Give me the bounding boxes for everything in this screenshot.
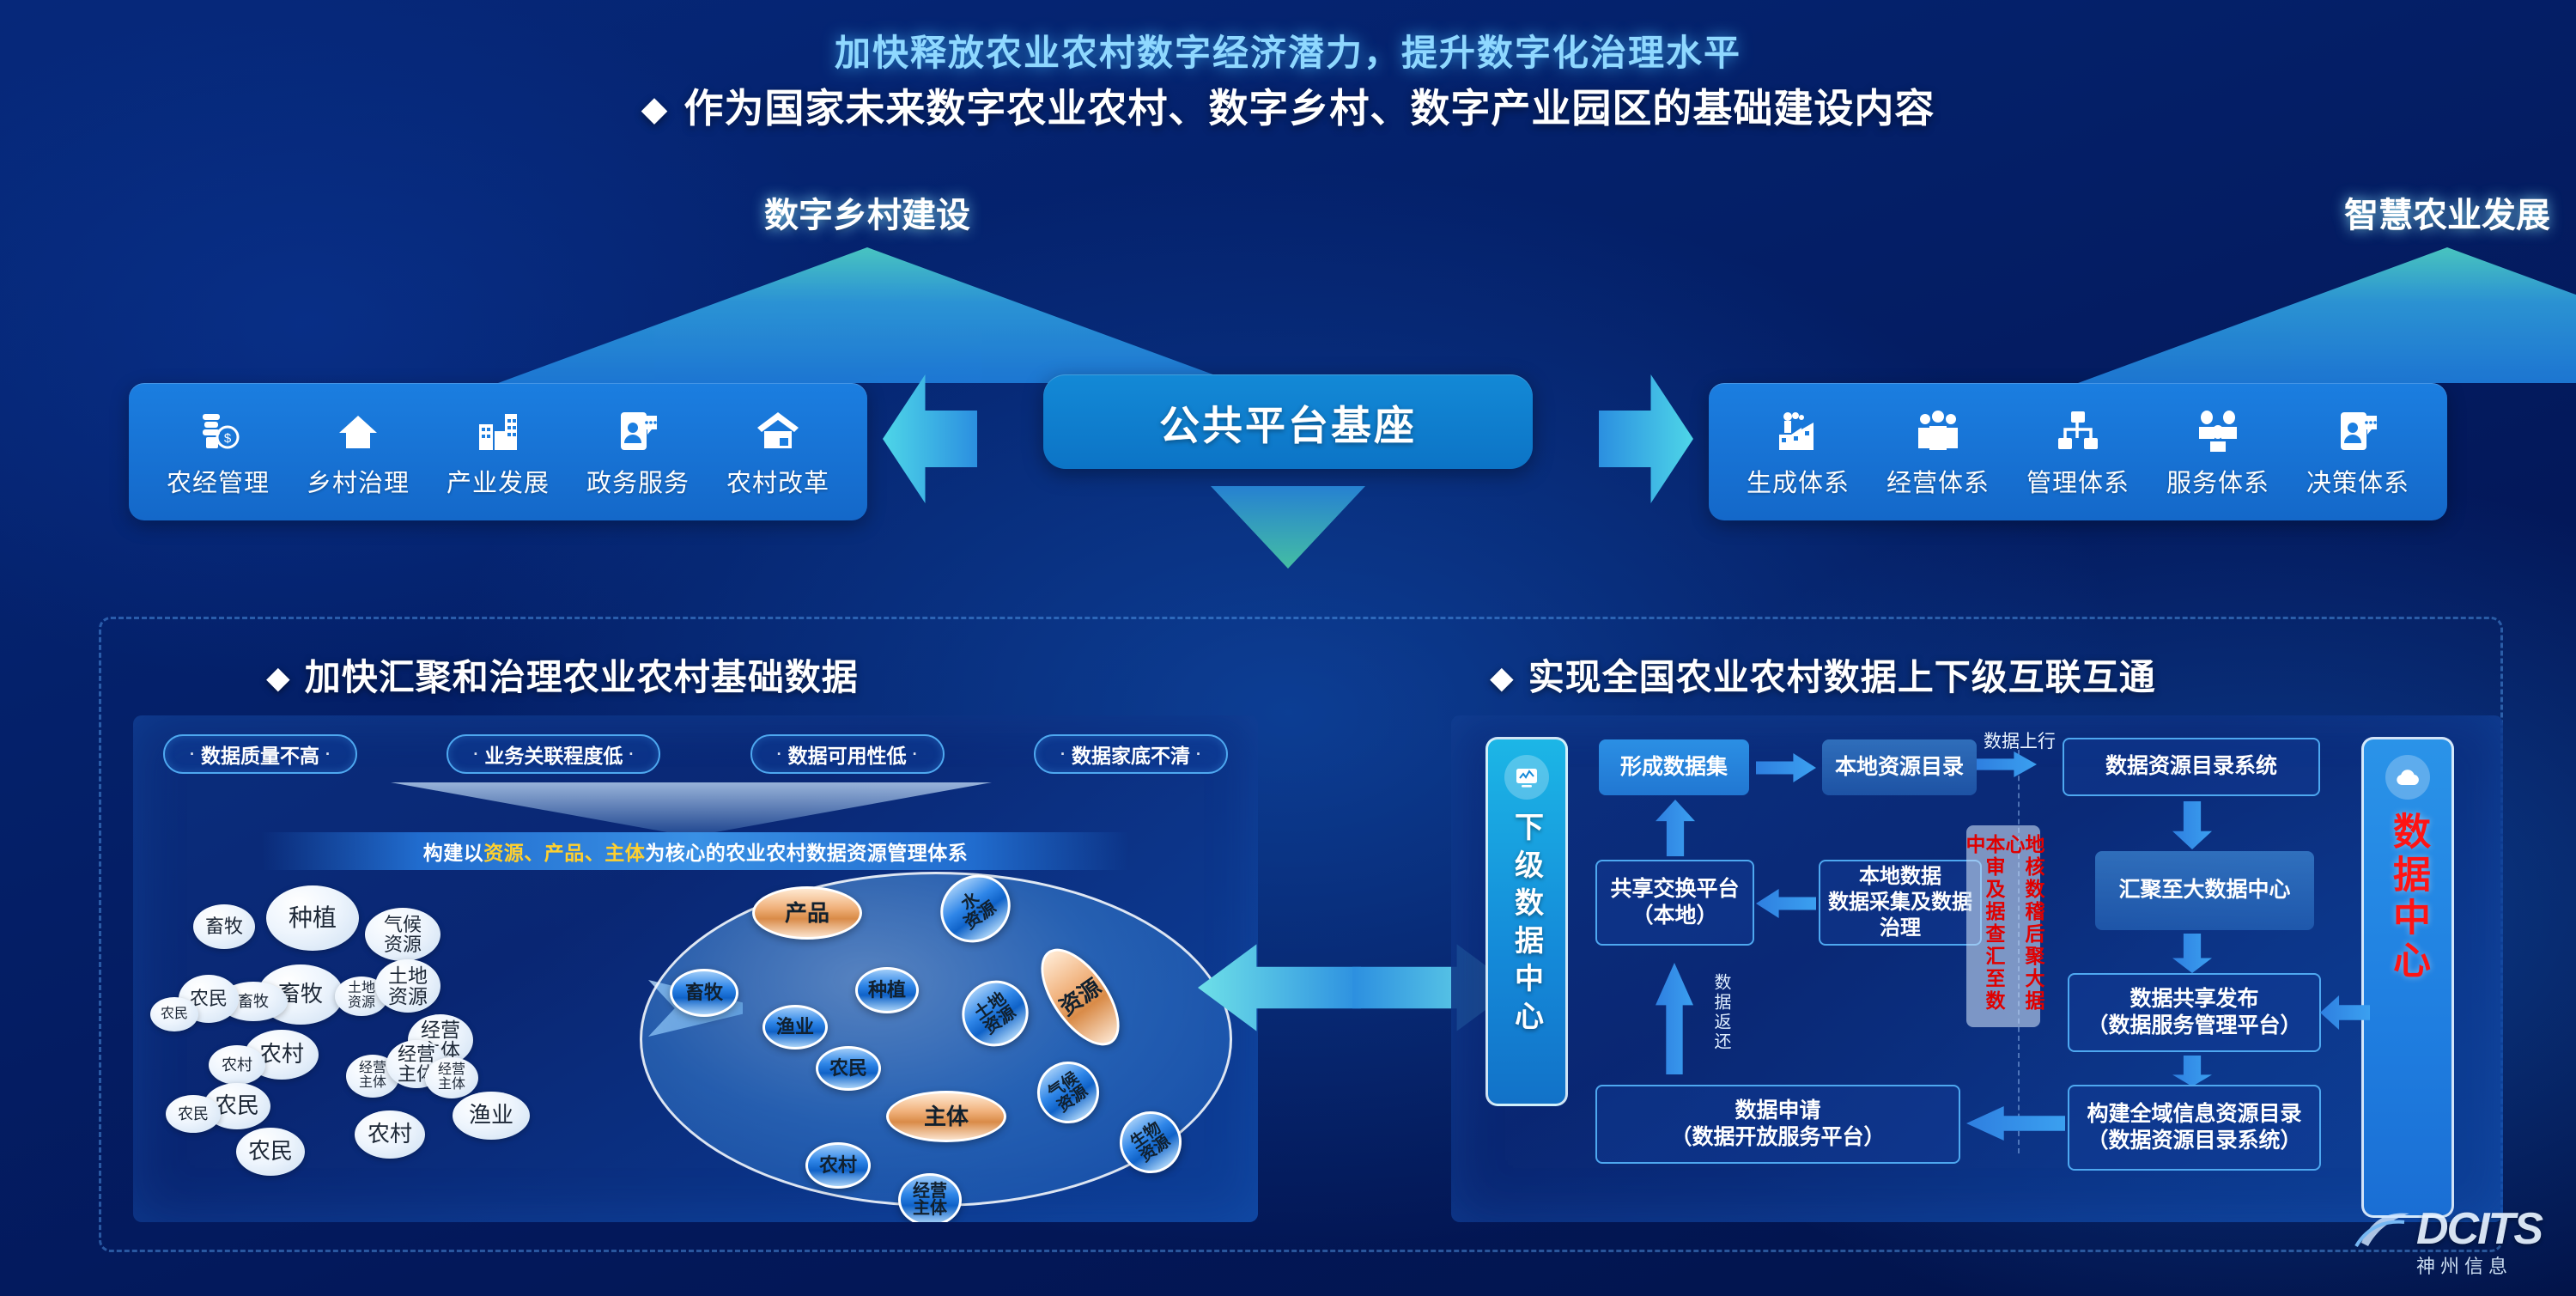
data-bubble: 农村 xyxy=(209,1045,265,1085)
feature-item-nongcungaige[interactable]: 农村改革 xyxy=(714,405,842,499)
feature-label: 产业发展 xyxy=(434,463,562,499)
logo-mark: DCITS xyxy=(2416,1203,2542,1255)
pill-label: 数据可用性低 xyxy=(788,739,907,769)
svg-text:$: $ xyxy=(224,431,232,446)
pill-dot: · xyxy=(777,745,782,764)
funnel-shape xyxy=(391,782,992,832)
issue-pill[interactable]: ·数据家底不清· xyxy=(1034,734,1228,774)
banner-highlight: 资源、产品、主体 xyxy=(483,837,645,866)
flow-box-build-catalog[interactable]: 构建全域信息资源目录 （数据资源目录系统） xyxy=(2068,1085,2321,1171)
data-upload-label: 数据上行 xyxy=(1984,727,2056,753)
feature-label: 经营体系 xyxy=(1874,463,2002,499)
feature-label: 农经管理 xyxy=(154,463,283,499)
right-house-panel: 智慧农业发展 生成体系 经营体系 管理体系 服务体系 xyxy=(1709,247,2447,520)
arrow-right-icon xyxy=(1599,374,1693,503)
money-stack-icon: $ xyxy=(154,405,283,458)
data-node: 畜牧 xyxy=(670,969,738,1017)
lower-data-center-bar[interactable]: 下级数据中心 xyxy=(1485,737,1568,1106)
core-system-banner: 构建以资源、产品、主体为核心的农业农村数据资源管理体系 xyxy=(262,832,1129,870)
feature-item-fuwutixi[interactable]: 服务体系 xyxy=(2154,405,2282,499)
data-node: 渔业 xyxy=(762,1005,828,1050)
flow-box-share-publish[interactable]: 数据共享发布 （数据服务管理平台） xyxy=(2068,973,2321,1052)
feature-item-juecetixi[interactable]: 决策体系 xyxy=(2293,405,2422,499)
data-bubble: 农村 xyxy=(355,1110,425,1159)
company-logo: DCITS 神州信息 xyxy=(2416,1203,2542,1279)
pill-dot: · xyxy=(913,745,918,764)
feature-label: 决策体系 xyxy=(2293,463,2422,499)
data-bubble: 畜牧 xyxy=(193,904,255,949)
red-note-col-right: 地核数稽后聚大据心 xyxy=(2003,834,2043,1019)
logo-swoosh-icon xyxy=(2354,1207,2415,1251)
flow-box-local-catalog[interactable]: 本地资源目录 xyxy=(1822,739,1977,795)
pill-dot: · xyxy=(190,745,195,764)
feature-item-jingyingtixi[interactable]: 经营体系 xyxy=(1874,405,2002,499)
issue-pill[interactable]: ·数据可用性低· xyxy=(750,734,945,774)
data-resource-model: 产品水 资源资源畜牧种植土地 资源渔业农民气候 资源生物 资源主体农村经营 主体 xyxy=(640,872,1232,1207)
roof-shape xyxy=(2078,247,2576,383)
data-center-bar[interactable]: 数据中心 xyxy=(2361,737,2454,1218)
feature-label: 农村改革 xyxy=(714,463,842,499)
data-node: 农民 xyxy=(816,1046,881,1091)
feature-item-shengchengtixi[interactable]: 生成体系 xyxy=(1734,405,1862,499)
data-bubble: 经营 主体 xyxy=(425,1057,478,1098)
people-group-icon xyxy=(1874,405,2002,458)
arrow-left-icon xyxy=(1756,889,1816,918)
heading-text: 实现全国农业农村数据上下级互联互通 xyxy=(1528,657,2156,697)
data-bubble: 农民 xyxy=(166,1095,221,1133)
page-title: 加快释放农业农村数字经济潜力，提升数字化治理水平 xyxy=(0,24,2576,76)
platform-base-button[interactable]: 公共平台基座 xyxy=(1043,374,1533,469)
data-node: 种植 xyxy=(855,967,919,1013)
left-house-roof: 数字乡村建设 xyxy=(129,247,867,376)
mobile-service-icon xyxy=(574,405,702,458)
flow-box-form-dataset[interactable]: 形成数据集 xyxy=(1599,739,1749,795)
data-bubble: 气候 资源 xyxy=(365,908,440,961)
banner-suffix: 为核心的农业农村数据资源管理体系 xyxy=(645,837,968,866)
data-bubble: 农民 xyxy=(236,1128,305,1176)
monitor-chart-icon xyxy=(1504,755,1549,800)
flow-box-catalog-system[interactable]: 数据资源目录系统 xyxy=(2063,738,2320,796)
red-note-col-left: 本审及据查汇至数中 xyxy=(1964,834,2003,1019)
right-house-body: 生成体系 经营体系 管理体系 服务体系 决策体系 xyxy=(1709,383,2447,520)
arrow-down-icon xyxy=(1211,486,1365,569)
core-node: 产品 xyxy=(752,886,862,940)
issue-pill-row: ·数据质量不高· ·业务关联程度低· ·数据可用性低· ·数据家底不清· xyxy=(163,734,1228,774)
buildings-icon xyxy=(434,405,562,458)
issue-pill[interactable]: ·业务关联程度低· xyxy=(447,734,660,774)
data-node: 水 资源 xyxy=(927,861,1024,956)
data-bubble: 种植 xyxy=(266,885,359,951)
arrow-right-icon xyxy=(1756,753,1816,782)
bottom-left-heading: ◆加快汇聚和治理农业农村基础数据 xyxy=(266,648,859,701)
feature-label: 政务服务 xyxy=(574,463,702,499)
cloud-icon xyxy=(2385,755,2430,800)
flow-box-aggregate-center[interactable]: 汇聚至大数据中心 xyxy=(2095,851,2314,930)
arrow-down-icon xyxy=(2172,801,2212,849)
red-note-panel: 本审及据查汇至数中 地核数稽后聚大据心 xyxy=(1966,825,2040,1027)
factory-icon xyxy=(1734,405,1862,458)
pill-label: 业务关联程度低 xyxy=(484,739,623,769)
roof-shape xyxy=(498,247,1236,383)
data-node: 土地 资源 xyxy=(949,968,1041,1060)
flow-box-data-apply[interactable]: 数据申请 （数据开放服务平台） xyxy=(1595,1085,1960,1164)
lower-data-center-label: 下级数据中心 xyxy=(1506,812,1548,1038)
subtitle-text: 作为国家未来数字农业农村、数字乡村、数字产业园区的基础建设内容 xyxy=(683,86,1935,131)
heading-text: 加快汇聚和治理农业农村基础数据 xyxy=(305,657,859,697)
feature-item-xiangcunzhili[interactable]: 乡村治理 xyxy=(294,405,422,499)
feature-label: 生成体系 xyxy=(1734,463,1862,499)
feature-item-zhengwufuwu[interactable]: 政务服务 xyxy=(574,405,702,499)
pill-dot: · xyxy=(473,745,478,764)
mobile-decision-icon xyxy=(2293,405,2422,458)
arrow-down-icon xyxy=(2172,1056,2212,1086)
left-house-panel: 数字乡村建设 $ 农经管理 乡村治理 产业发展 政务服务 xyxy=(129,247,867,520)
pill-label: 数据质量不高 xyxy=(201,739,319,769)
village-house-icon xyxy=(714,405,842,458)
left-house-title: 数字乡村建设 xyxy=(498,187,1236,237)
pill-dot: · xyxy=(1196,745,1201,764)
arrow-left-icon xyxy=(1966,1106,2065,1141)
diamond-bullet-icon: ◆ xyxy=(1490,660,1515,695)
pill-label: 数据家底不清 xyxy=(1072,739,1190,769)
data-node: 经营 主体 xyxy=(898,1173,962,1222)
unstructured-data-cloud: 畜牧种植气候 资源畜牧畜牧农民农民土地 资源土地 资源经营 主体农村农村经营 主… xyxy=(150,870,648,1205)
flow-box-local-data[interactable]: 本地数据 数据采集及数据治理 xyxy=(1819,860,1982,946)
diamond-bullet-icon: ◆ xyxy=(641,90,669,128)
bottom-right-heading: ◆实现全国农业农村数据上下级互联互通 xyxy=(1490,648,2156,701)
data-center-label: 数据中心 xyxy=(2380,812,2435,983)
pill-dot: · xyxy=(629,745,634,764)
feature-item-chanyefazhan[interactable]: 产业发展 xyxy=(434,405,562,499)
feature-label: 乡村治理 xyxy=(294,463,422,499)
page-subtitle: ◆作为国家未来数字农业农村、数字乡村、数字产业园区的基础建设内容 xyxy=(0,77,2576,134)
data-bubble: 土地 资源 xyxy=(375,959,440,1013)
pill-dot: · xyxy=(325,745,331,764)
feature-item-nongjingguanli[interactable]: $ 农经管理 xyxy=(154,405,283,499)
platform-label: 公共平台基座 xyxy=(1159,392,1417,452)
data-node: 生物 资源 xyxy=(1108,1099,1194,1185)
banner-prefix: 构建以 xyxy=(423,837,484,866)
data-node: 农村 xyxy=(805,1142,871,1189)
core-node: 主体 xyxy=(886,1091,1006,1142)
arrow-left-icon xyxy=(883,374,977,503)
left-house-body: $ 农经管理 乡村治理 产业发展 政务服务 农村改革 xyxy=(129,383,867,520)
data-return-label: 数据返还 xyxy=(1709,973,1734,1052)
feature-label: 服务体系 xyxy=(2154,463,2282,499)
right-house-roof: 智慧农业发展 xyxy=(1709,247,2447,376)
flow-box-share-exchange[interactable]: 共享交换平台 （本地） xyxy=(1595,860,1754,946)
arrow-up-icon xyxy=(1656,800,1695,856)
team-service-icon xyxy=(2154,405,2282,458)
bottom-left-card: ·数据质量不高· ·业务关联程度低· ·数据可用性低· ·数据家底不清· 构建以… xyxy=(133,715,1258,1222)
arrow-right-icon xyxy=(1977,751,2037,777)
home-icon xyxy=(294,405,422,458)
data-bubble: 农民 xyxy=(150,997,198,1031)
data-node: 气候 资源 xyxy=(1025,1050,1111,1135)
arrow-down-icon xyxy=(2172,934,2212,973)
core-node: 资源 xyxy=(1026,935,1135,1058)
issue-pill[interactable]: ·数据质量不高· xyxy=(163,734,357,774)
bottom-right-card: 下级数据中心 数据中心 形成数据集 本地资源目录 共享交换平台 （本地） 本地数… xyxy=(1451,715,2503,1222)
feature-item-guanlitixi[interactable]: 管理体系 xyxy=(2014,405,2142,499)
diamond-bullet-icon: ◆ xyxy=(266,660,291,695)
arrow-up-icon xyxy=(1656,963,1693,1074)
pill-dot: · xyxy=(1060,745,1066,764)
org-chart-icon xyxy=(2014,405,2142,458)
data-bubble: 渔业 xyxy=(453,1092,530,1140)
right-house-title: 智慧农业发展 xyxy=(2078,187,2576,237)
feature-label: 管理体系 xyxy=(2014,463,2142,499)
logo-cn: 神州信息 xyxy=(2416,1251,2542,1279)
